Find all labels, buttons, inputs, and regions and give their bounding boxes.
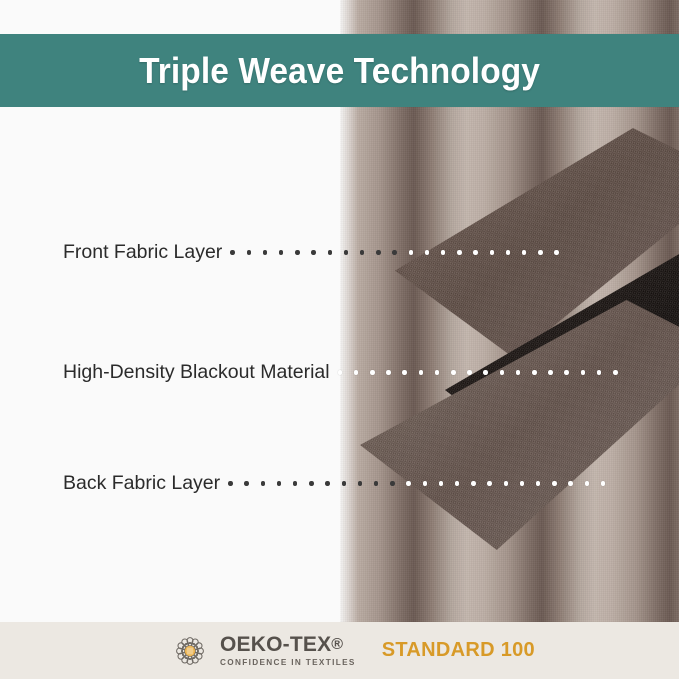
- certification-bar: OEKO-TEX® CONFIDENCE IN TEXTILES STANDAR…: [0, 622, 679, 679]
- registered-mark-icon: ®: [331, 636, 343, 653]
- leader-dot: [295, 250, 300, 255]
- leader-dot: [425, 250, 430, 255]
- page-title: Triple Weave Technology: [139, 50, 540, 92]
- oeko-tex-brand-text: OEKO-TEX: [220, 633, 331, 656]
- leader-dot: [228, 481, 233, 486]
- leader-dot: [402, 370, 407, 375]
- leader-dot: [473, 250, 478, 255]
- leader-dot: [522, 250, 527, 255]
- leader-dot: [455, 481, 460, 486]
- leader-dot: [435, 370, 440, 375]
- leader-dot: [277, 481, 282, 486]
- leader-dot: [263, 250, 268, 255]
- leader-dot: [548, 370, 553, 375]
- leader-dot: [601, 481, 606, 486]
- leader-dot: [311, 250, 316, 255]
- oeko-tex-wordmark: OEKO-TEX® CONFIDENCE IN TEXTILES: [220, 634, 356, 667]
- leader-dot: [467, 370, 472, 375]
- leader-dot: [506, 250, 511, 255]
- leader-dot: [520, 481, 525, 486]
- leader-dot: [585, 481, 590, 486]
- leader-dot: [354, 370, 359, 375]
- callout-label: Back Fabric Layer: [63, 471, 220, 495]
- leader-dot: [490, 250, 495, 255]
- leader-dot: [554, 250, 559, 255]
- leader-dot: [325, 481, 330, 486]
- leader-dot: [538, 250, 543, 255]
- leader-dot: [457, 250, 462, 255]
- leader-dot: [374, 481, 379, 486]
- leader-dot: [613, 370, 618, 375]
- callout-front-fabric-layer: Front Fabric Layer: [63, 240, 570, 264]
- leader-dot: [471, 481, 476, 486]
- infographic-canvas: Triple Weave Technology Front Fabric Lay…: [0, 0, 679, 679]
- callout-back-fabric-layer: Back Fabric Layer: [63, 471, 618, 495]
- leader-dot: [536, 481, 541, 486]
- leader-dot: [552, 481, 557, 486]
- leader-dot: [309, 481, 314, 486]
- dotted-leader-icon: [338, 360, 638, 384]
- leader-dot: [392, 250, 397, 255]
- leader-dot: [247, 250, 252, 255]
- leader-dot: [423, 481, 428, 486]
- leader-dot: [406, 481, 411, 486]
- leader-dot: [487, 481, 492, 486]
- leader-dot: [504, 481, 509, 486]
- leader-dot: [230, 250, 235, 255]
- leader-dot: [358, 481, 363, 486]
- leader-dot: [441, 250, 446, 255]
- callout-label: Front Fabric Layer: [63, 240, 222, 264]
- leader-dot: [244, 481, 249, 486]
- leader-dot: [342, 481, 347, 486]
- leader-dot: [360, 250, 365, 255]
- leader-dot: [439, 481, 444, 486]
- callout-label: High-Density Blackout Material: [63, 360, 330, 384]
- leader-dot: [500, 370, 505, 375]
- leader-dot: [516, 370, 521, 375]
- leader-dot: [451, 370, 456, 375]
- leader-dot: [386, 370, 391, 375]
- leader-dot: [568, 481, 573, 486]
- leader-dot: [376, 250, 381, 255]
- dotted-leader-icon: [230, 240, 570, 264]
- leader-dot: [328, 250, 333, 255]
- leader-dot: [344, 250, 349, 255]
- leader-dot: [370, 370, 375, 375]
- standard-100-label: STANDARD 100: [382, 639, 535, 662]
- leader-dot: [279, 250, 284, 255]
- leader-dot: [390, 481, 395, 486]
- leader-dot: [419, 370, 424, 375]
- dotted-leader-icon: [228, 471, 618, 495]
- oeko-tex-tagline: CONFIDENCE IN TEXTILES: [220, 658, 356, 667]
- leader-dot: [532, 370, 537, 375]
- leader-dot: [483, 370, 488, 375]
- leader-dot: [409, 250, 414, 255]
- leader-dot: [261, 481, 266, 486]
- leader-dot: [597, 370, 602, 375]
- oeko-tex-flower-icon: [170, 631, 210, 671]
- leader-dot: [293, 481, 298, 486]
- oeko-tex-brand: OEKO-TEX®: [220, 634, 356, 655]
- title-banner: Triple Weave Technology: [0, 34, 679, 107]
- callout-blackout-material: High-Density Blackout Material: [63, 360, 638, 384]
- oeko-tex-logo: OEKO-TEX® CONFIDENCE IN TEXTILES STANDAR…: [170, 631, 535, 671]
- leader-dot: [564, 370, 569, 375]
- leader-dot: [581, 370, 586, 375]
- leader-dot: [338, 370, 343, 375]
